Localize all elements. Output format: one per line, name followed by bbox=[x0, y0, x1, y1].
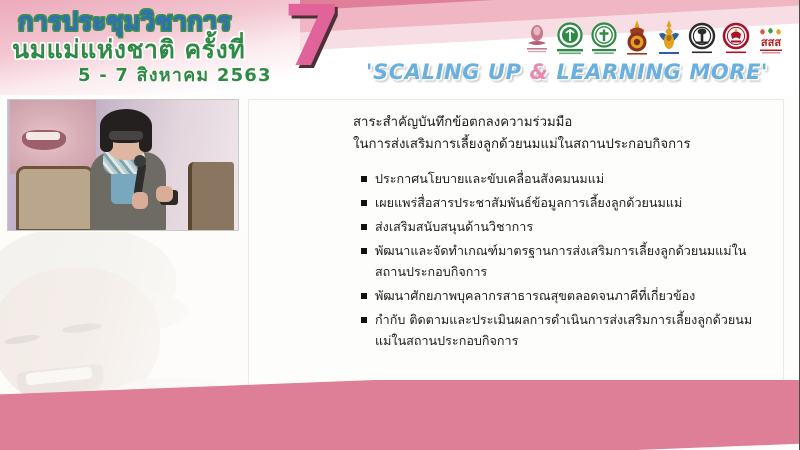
slide-footer-band bbox=[0, 380, 800, 450]
speaker-hand-right bbox=[156, 186, 173, 202]
list-item-label: ประกาศนโยบายและขับเคลื่อนสังคมนมแม่ bbox=[375, 168, 604, 189]
presentation-slide: การประชุมวิชาการ นมแม่แห่งชาติ ครั้งที่ … bbox=[0, 0, 800, 450]
red-seal-institution-logo-icon bbox=[722, 22, 750, 60]
square-bullet-icon bbox=[361, 224, 367, 230]
list-item-label: พัฒนาและจัดทำเกณฑ์มาตรฐานการส่งเสริมการเ… bbox=[375, 240, 761, 282]
slogan-part-open: 'SCALING UP bbox=[366, 60, 530, 84]
ministry-of-public-health-logo-icon bbox=[590, 22, 618, 60]
list-item: พัฒนาศักยภาพบุคลากรสาธารณสุขตลอดจนภาคีที… bbox=[361, 285, 761, 306]
footer-pink-band-deep bbox=[0, 380, 800, 450]
conference-edition-number: 7 bbox=[283, 0, 341, 78]
content-lede-line-2: ในการส่งเสริมการเลี้ยงลูกด้วยนมแม่ในสถาน… bbox=[353, 134, 691, 156]
list-item-label: เผยแพร่สื่อสารประชาสัมพันธ์ข้อมูลการเลี้… bbox=[375, 192, 682, 213]
slide-header: การประชุมวิชาการ นมแม่แห่งชาติ ครั้งที่ … bbox=[0, 0, 800, 95]
microphone-head bbox=[134, 155, 146, 167]
speaker-photo bbox=[7, 99, 239, 231]
content-bullet-list: ประกาศนโยบายและขับเคลื่อนสังคมนมแม่ เผยแ… bbox=[361, 168, 761, 354]
svg-text:สสส: สสส bbox=[761, 36, 781, 49]
list-item: พัฒนาและจัดทำเกณฑ์มาตรฐานการส่งเสริมการเ… bbox=[361, 240, 761, 282]
content-lede: สาระสำคัญบันทึกข้อตกลงความร่วมมือ ในการส… bbox=[353, 112, 691, 156]
list-item-label: ส่งเสริมสนับสนุนด้านวิชาการ bbox=[375, 216, 533, 237]
slogan-ampersand: & bbox=[530, 60, 549, 84]
list-item: ประกาศนโยบายและขับเคลื่อนสังคมนมแม่ bbox=[361, 168, 761, 189]
square-bullet-icon bbox=[361, 200, 367, 206]
square-bullet-icon bbox=[361, 176, 367, 182]
list-item: ส่งเสริมสนับสนุนด้านวิชาการ bbox=[361, 216, 761, 237]
list-item-label: พัฒนาศักยภาพบุคลากรสาธารณสุขตลอดจนภาคีที… bbox=[375, 285, 695, 306]
speaker-hand-left bbox=[132, 192, 148, 209]
conference-date: 5 - 7 สิงหาคม 2563 bbox=[78, 60, 272, 89]
royal-patronage-emblem-icon bbox=[524, 22, 550, 60]
stage-armchair-right bbox=[188, 162, 234, 231]
speaker-eyeglasses bbox=[109, 131, 143, 140]
slide-content-panel: สาระสำคัญบันทึกข้อตกลงความร่วมมือ ในการส… bbox=[248, 99, 784, 399]
content-lede-line-1: สาระสำคัญบันทึกข้อตกลงความร่วมมือ bbox=[353, 112, 691, 134]
square-bullet-icon bbox=[361, 317, 367, 323]
square-bullet-icon bbox=[361, 293, 367, 299]
thai-health-promotion-foundation-logo-icon: สสส bbox=[756, 22, 786, 60]
stage-armchair-left bbox=[16, 166, 94, 231]
garuda-national-emblem-logo-icon bbox=[656, 20, 682, 60]
partner-logo-strip: สสส bbox=[524, 24, 786, 60]
slogan-part-close: LEARNING MORE' bbox=[548, 60, 768, 84]
thai-breastfeeding-center-logo-icon bbox=[556, 22, 584, 60]
list-item: กำกับ ติดตามและประเมินผลการดำเนินการส่งเ… bbox=[361, 309, 761, 351]
list-item-label: กำกับ ติดตามและประเมินผลการดำเนินการส่งเ… bbox=[375, 309, 761, 351]
national-health-foundation-logo-icon bbox=[688, 22, 716, 60]
list-item: เผยแพร่สื่อสารประชาสัมพันธ์ข้อมูลการเลี้… bbox=[361, 192, 761, 213]
conference-slogan: 'SCALING UP & LEARNING MORE' bbox=[366, 60, 768, 84]
royal-crown-emblem-logo-icon bbox=[624, 20, 650, 60]
square-bullet-icon bbox=[361, 248, 367, 254]
backdrop-baby-teeth bbox=[26, 132, 60, 140]
